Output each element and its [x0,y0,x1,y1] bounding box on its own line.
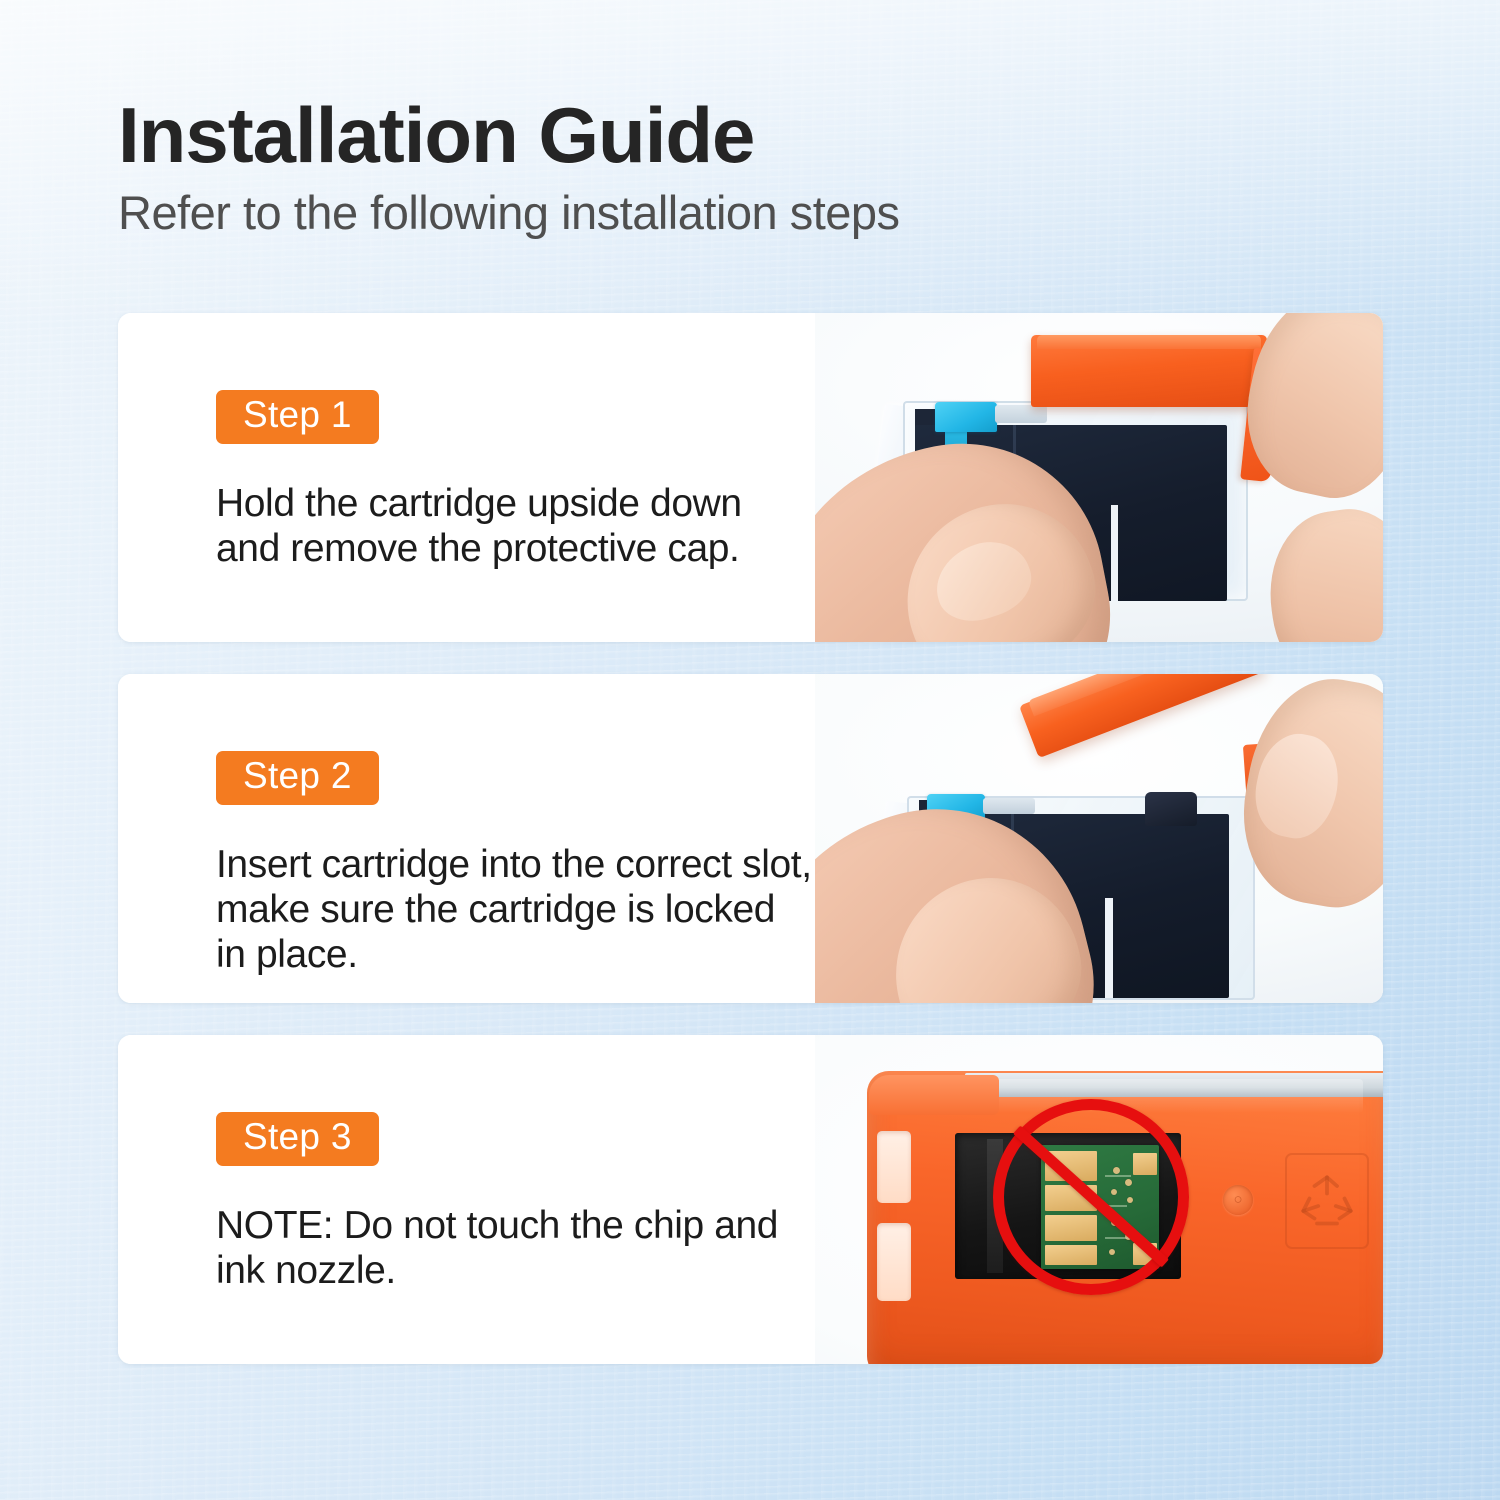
steps-list: Step 1 Hold the cartridge upside down an… [118,313,1383,1396]
step-3-description: NOTE: Do not touch the chip and ink nozz… [216,1203,815,1293]
page-header: Installation Guide Refer to the followin… [118,96,1398,237]
step-card-3: Step 3 NOTE: Do not touch the chip and i… [118,1035,1383,1364]
step-3-badge: Step 3 [216,1112,379,1166]
cartridge-ink-port [1145,792,1197,826]
step-card-1: Step 1 Hold the cartridge upside down an… [118,313,1383,642]
step-1-photo [815,313,1383,642]
cartridge-body-notch [1105,898,1113,998]
step-3-text-column: Step 3 NOTE: Do not touch the chip and i… [118,1035,815,1364]
right-thumb [1259,500,1383,642]
cartridge-cap-removal-illustration [815,313,1383,642]
step-3-photo: ○ [815,1035,1383,1364]
cartridge-circle-mark: ○ [1223,1185,1253,1215]
step-2-text-column: Step 2 Insert cartridge into the correct… [118,674,815,1003]
step-2-description: Insert cartridge into the correct slot, … [216,842,815,978]
recycling-icon [1285,1153,1369,1249]
step-card-2: Step 2 Insert cartridge into the correct… [118,674,1383,1003]
cartridge-side-cutout-upper [877,1131,911,1203]
page-subtitle: Refer to the following installation step… [118,188,1398,237]
step-2-badge: Step 2 [216,751,379,805]
orange-cap-highlight [1037,335,1261,349]
do-not-touch-chip-illustration: ○ [815,1035,1383,1364]
step-1-description: Hold the cartridge upside down and remov… [216,481,815,571]
page-title: Installation Guide [118,96,1398,176]
step-1-text-column: Step 1 Hold the cartridge upside down an… [118,313,815,642]
orange-protective-cap [1019,674,1265,758]
cartridge-front-lip [869,1075,999,1115]
cyan-tab-icon [935,402,997,432]
grey-tab [983,798,1035,814]
grey-tab [995,405,1047,423]
cartridge-gloss-highlight [965,1079,1363,1113]
cartridge-cap-lifted-illustration [815,674,1383,1003]
cartridge-body-notch [1111,505,1118,601]
step-2-photo [815,674,1383,1003]
cartridge-side-cutout-lower [877,1223,911,1301]
step-1-badge: Step 1 [216,390,379,444]
